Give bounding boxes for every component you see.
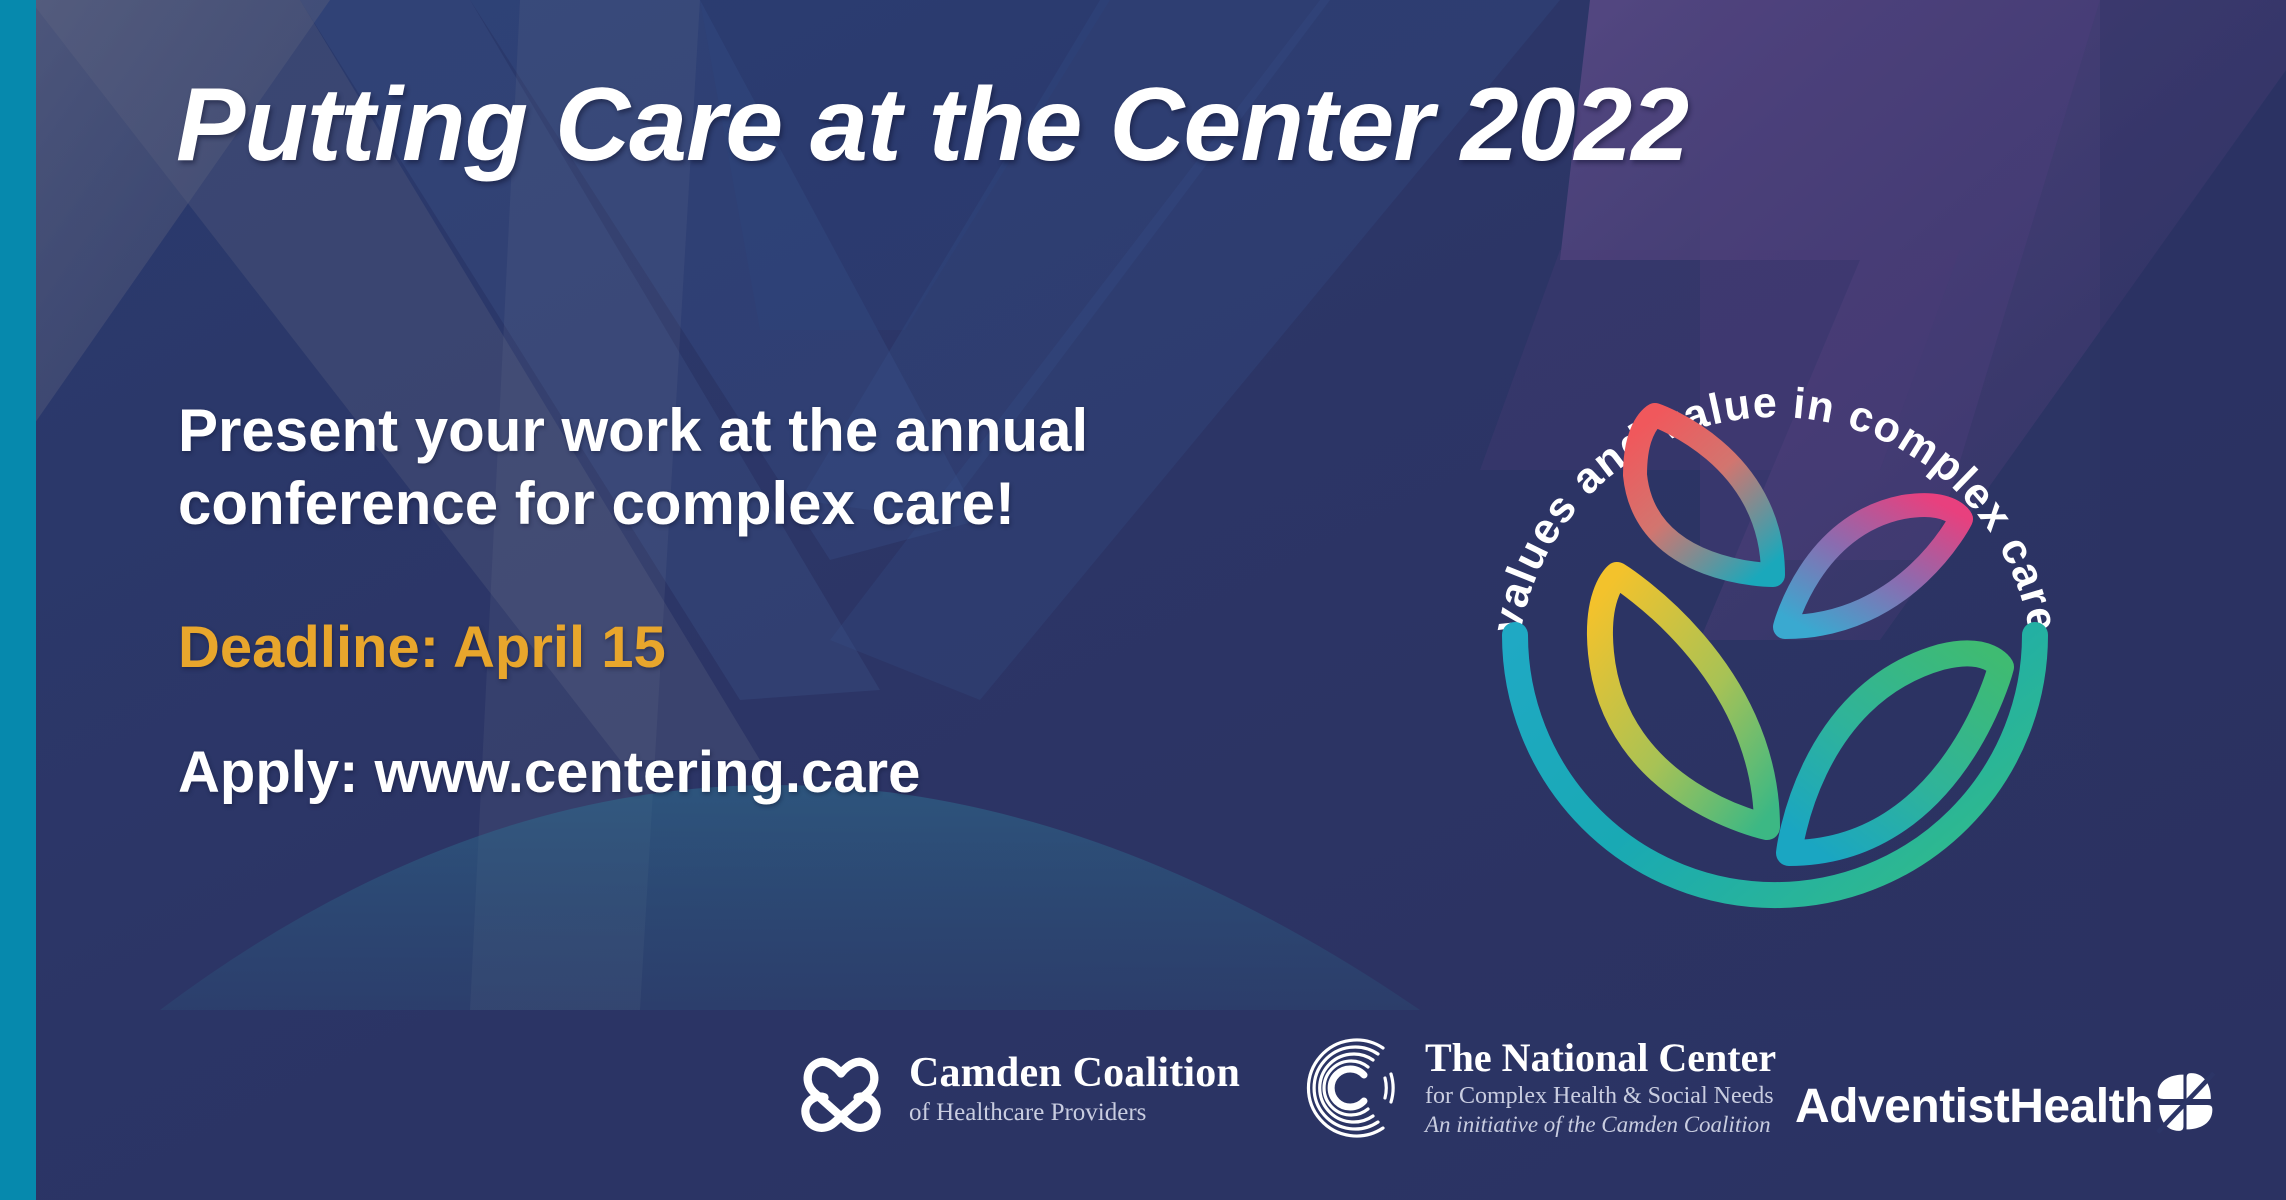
national-center-name: The National Center	[1425, 1038, 1776, 1079]
lede-line-2: conference for complex care!	[178, 468, 1418, 541]
conference-logo-svg: values and value in complex care	[1455, 275, 2095, 935]
logo-leaf-top-right	[1785, 505, 1961, 627]
national-center-subtitle-1: for Complex Health & Social Needs	[1425, 1082, 1776, 1110]
camden-coalition-subtitle: of Healthcare Providers	[909, 1098, 1240, 1128]
national-center-logo: The National Center for Complex Health &…	[1305, 1038, 1776, 1138]
page-title: Putting Care at the Center 2022	[176, 70, 1896, 180]
lede-text: Present your work at the annual conferen…	[178, 395, 1418, 540]
conference-logo: values and value in complex care	[1455, 275, 2095, 935]
camden-coalition-text: Camden Coalition of Healthcare Providers	[909, 1052, 1240, 1129]
camden-coalition-name: Camden Coalition	[909, 1052, 1240, 1095]
deadline-text: Deadline: April 15	[178, 613, 666, 683]
interlocking-hearts-icon	[795, 1044, 887, 1136]
promo-slide: Putting Care at the Center 2022 Present …	[0, 0, 2286, 1200]
adventist-health-name: AdventistHealth	[1795, 1083, 2153, 1131]
four-leaf-icon	[2147, 1064, 2223, 1140]
left-accent-bar	[0, 0, 36, 1200]
lede-line-1: Present your work at the annual	[178, 395, 1418, 468]
logo-leaf-bottom-left	[1600, 575, 1767, 827]
apply-url-text: Apply: www.centering.care	[178, 738, 920, 808]
national-center-subtitle-2: An initiative of the Camden Coalition	[1425, 1111, 1776, 1138]
adventist-health-logo: AdventistHealth	[1795, 1064, 2223, 1150]
national-center-text: The National Center for Complex Health &…	[1425, 1038, 1776, 1138]
footer-logos: Camden Coalition of Healthcare Providers…	[0, 1036, 2286, 1156]
concentric-c-icon	[1305, 1038, 1405, 1138]
camden-coalition-logo: Camden Coalition of Healthcare Providers	[795, 1044, 1240, 1136]
